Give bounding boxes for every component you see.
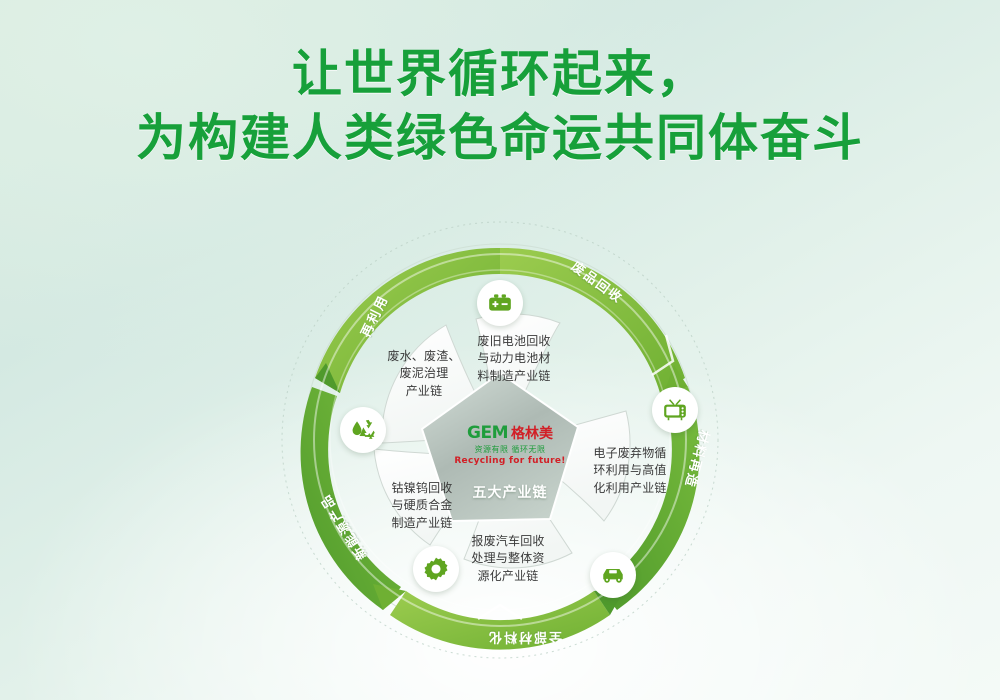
petal-text-battery: 废旧电池回收与动力电池材料制造产业链 <box>462 333 566 385</box>
badge-alloys[interactable] <box>413 546 459 592</box>
petal-text-electronics: 电子废弃物循环利用与高值化利用产业链 <box>578 445 682 497</box>
poster-canvas: 让世界循环起来， 为构建人类绿色命运共同体奋斗 <box>0 0 1000 700</box>
battery-icon <box>487 290 513 316</box>
tv-icon <box>662 397 688 423</box>
badge-electronics[interactable] <box>652 387 698 433</box>
logo-brand-cn: 格林美 <box>511 427 553 441</box>
logo-slogan-en: Recycling for future! <box>445 456 575 466</box>
logo-wordmark: GEM 格林美 <box>445 425 575 442</box>
logo-slogan-cn: 资源有限 循环无限 <box>445 444 575 455</box>
badge-vehicles[interactable] <box>590 552 636 598</box>
title-line-2: 为构建人类绿色命运共同体奋斗 <box>0 106 1000 170</box>
water-recycle-icon <box>350 417 376 443</box>
logo-brand-en: GEM <box>467 425 508 442</box>
ring-label-bottom: 全部材料化 <box>487 629 562 648</box>
car-icon <box>600 562 626 588</box>
petal-text-vehicles: 报废汽车回收处理与整体资源化产业链 <box>456 533 560 585</box>
gear-icon <box>423 556 449 582</box>
petal-text-alloys: 钴镍钨回收与硬质合金制造产业链 <box>370 480 474 532</box>
title-line-1: 让世界循环起来， <box>0 42 1000 106</box>
petal-text-waste-treatment: 废水、废渣、废泥治理产业链 <box>372 348 476 400</box>
badge-battery[interactable] <box>477 280 523 326</box>
badge-waste-treatment[interactable] <box>340 407 386 453</box>
page-title: 让世界循环起来， 为构建人类绿色命运共同体奋斗 <box>0 42 1000 170</box>
circular-industry-chain-diagram: GEM 格林美 资源有限 循环无限 Recycling for future! … <box>260 215 740 685</box>
